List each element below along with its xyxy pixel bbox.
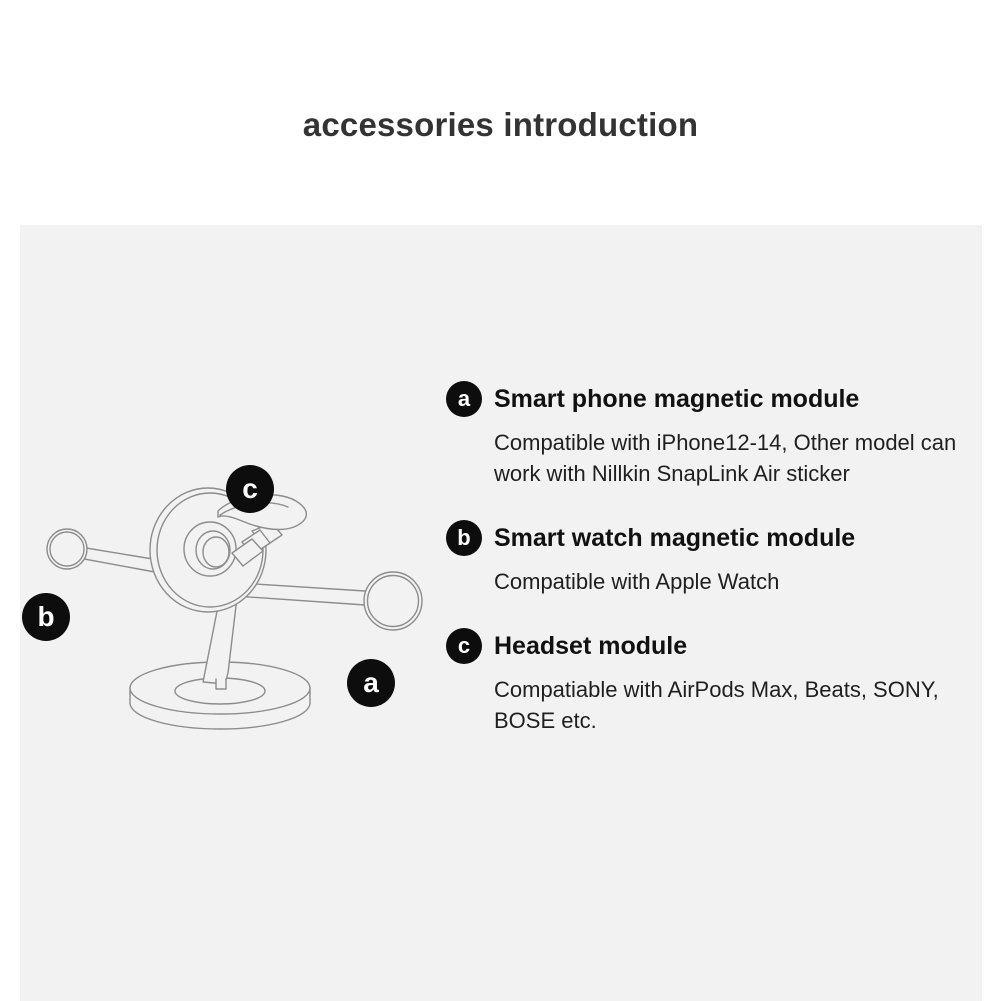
diagram-callout-c[interactable]: c (226, 465, 274, 513)
legend-badge-b: b (446, 520, 482, 556)
diagram-callout-a[interactable]: a (347, 659, 395, 707)
post-foot (216, 679, 226, 689)
legend-item-c: c Headset module Compatiable with AirPod… (446, 627, 986, 736)
content-panel: c b a a Smart phone magnetic module Comp… (20, 225, 982, 1001)
legend-head-c: c Headset module (446, 627, 986, 665)
legend-head-b: b Smart watch magnetic module (446, 519, 986, 557)
legend-title-b: Smart watch magnetic module (494, 524, 855, 553)
legend-description-c: Compatiable with AirPods Max, Beats, SON… (494, 674, 974, 736)
legend-head-a: a Smart phone magnetic module (446, 380, 986, 418)
legend-item-a: a Smart phone magnetic module Compatible… (446, 380, 986, 489)
legend-badge-a: a (446, 381, 482, 417)
legend-description-b: Compatible with Apple Watch (494, 566, 974, 597)
diagram-callout-b[interactable]: b (22, 593, 70, 641)
legend-description-a: Compatible with iPhone12-14, Other model… (494, 427, 974, 489)
page-title: accessories introduction (0, 103, 1001, 147)
legend-title-a: Smart phone magnetic module (494, 385, 859, 414)
legend-item-b: b Smart watch magnetic module Compatible… (446, 519, 986, 597)
product-info-page: accessories introduction (0, 0, 1001, 1001)
watch-module-ring-inner (50, 532, 84, 566)
accessory-legend-list: a Smart phone magnetic module Compatible… (446, 380, 986, 736)
main-disc-hub-inner (203, 537, 229, 567)
legend-badge-c: c (446, 628, 482, 664)
phone-module-ring-inner (368, 576, 419, 627)
legend-title-c: Headset module (494, 632, 687, 661)
